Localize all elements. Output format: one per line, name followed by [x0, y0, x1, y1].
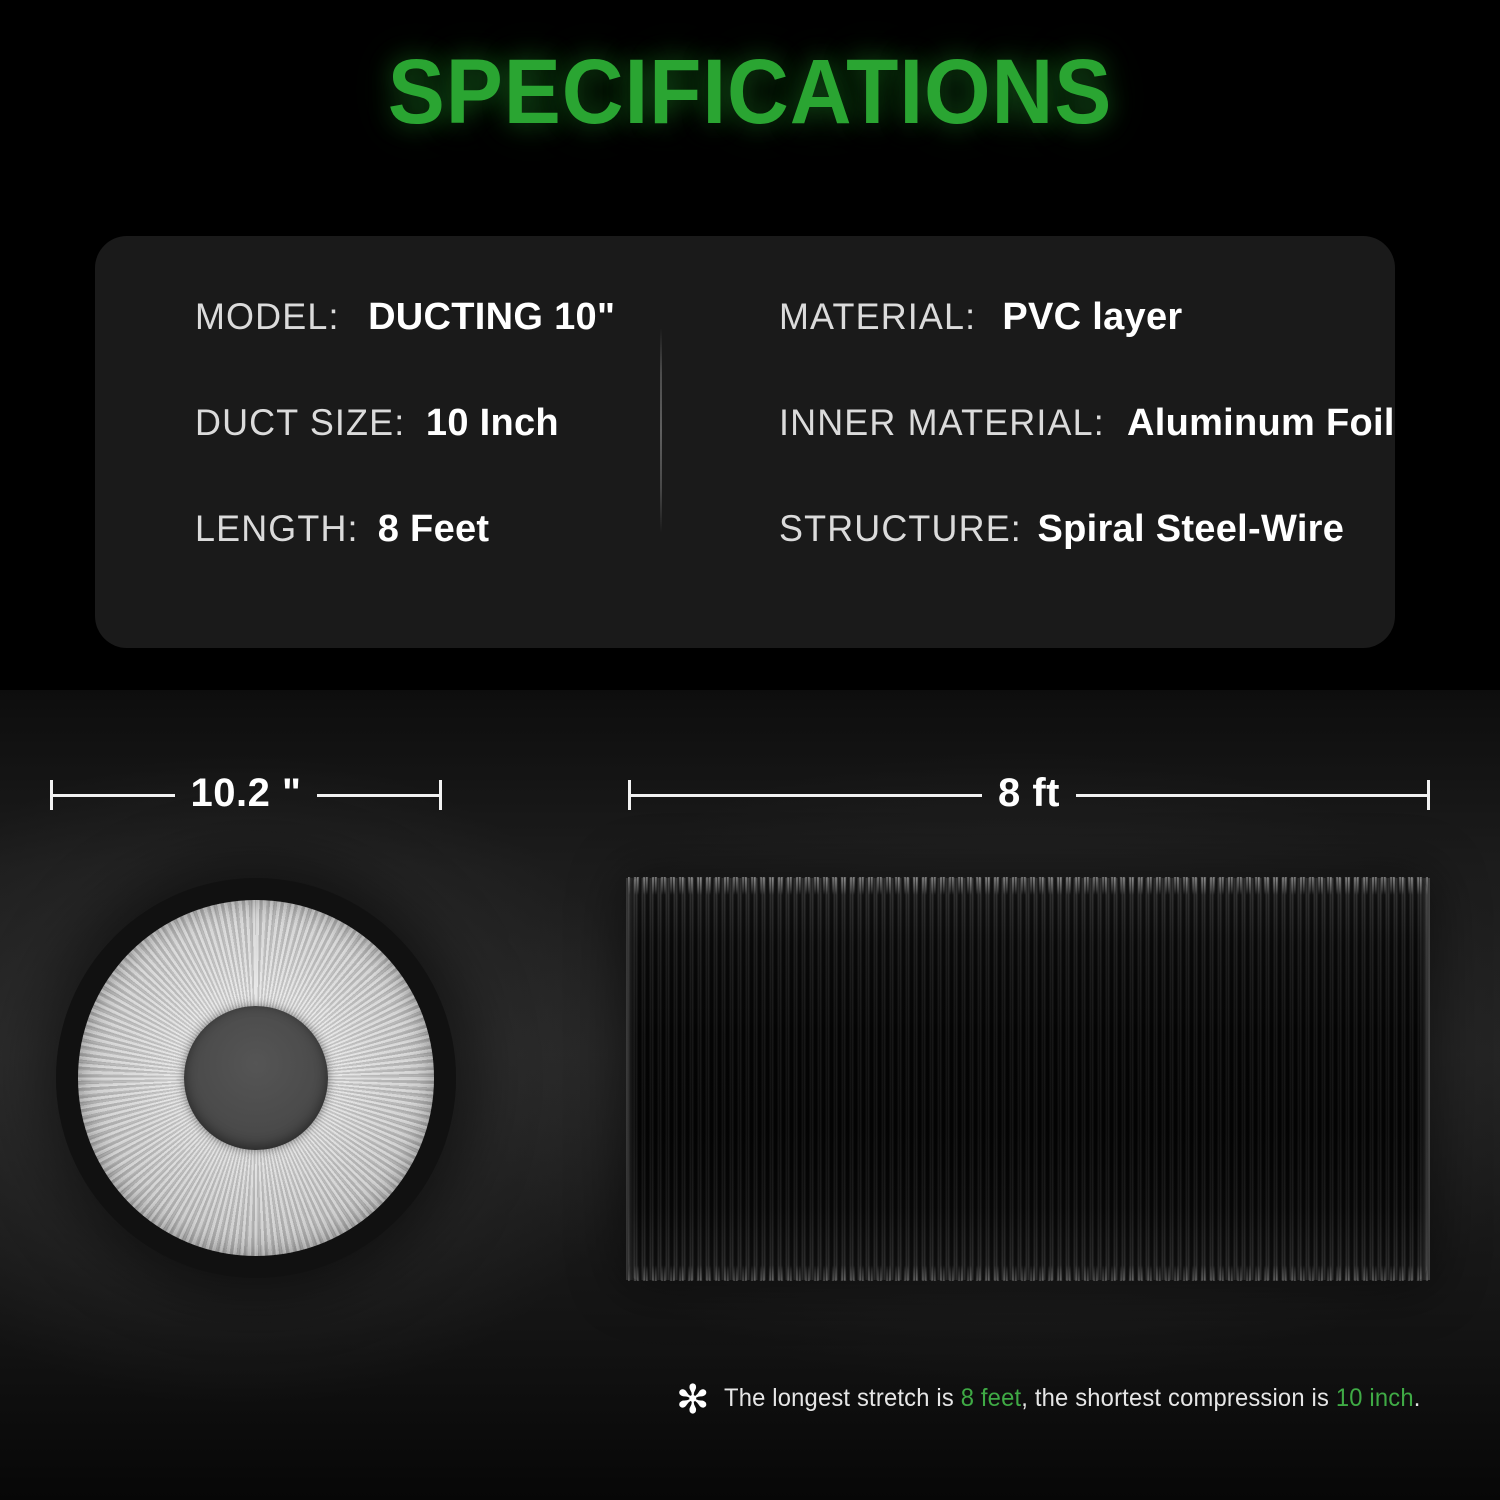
spec-value-material: PVC layer: [1002, 296, 1182, 339]
spec-value-structure: Spiral Steel-Wire: [1037, 508, 1344, 551]
spec-row-structure: STRUCTURE: Spiral Steel-Wire: [779, 508, 1344, 562]
spec-row-material: MATERIAL: PVC layer: [779, 296, 1183, 350]
footnote-value-stretch: 8 feet: [960, 1384, 1021, 1412]
duct-inner-bore: [184, 1006, 328, 1150]
footnote-suffix: .: [1413, 1384, 1420, 1412]
spec-row-length: LENGTH: 8 Feet: [195, 508, 489, 562]
duct-top-corrugation-edge: [628, 877, 1428, 895]
spec-row-inner-material: INNER MATERIAL: Aluminum Foil: [779, 402, 1395, 456]
footnote-middle: , the shortest compression is: [1021, 1384, 1336, 1412]
spec-label-model: MODEL:: [195, 296, 340, 338]
spec-value-length: 8 Feet: [378, 508, 490, 551]
dimension-label-diameter: 10.2 ": [175, 771, 318, 816]
duct-tube-image: [628, 878, 1428, 1280]
dimension-cap-right: [1427, 780, 1430, 810]
duct-right-edge-highlight: [1420, 878, 1430, 1280]
duct-bottom-corrugation-edge: [628, 1265, 1428, 1281]
spec-label-duct-size: DUCT SIZE:: [195, 402, 405, 444]
specifications-card: MODEL: DUCTING 10" DUCT SIZE: 10 Inch LE…: [95, 236, 1395, 648]
dimension-line-left: [631, 794, 982, 797]
duct-cross-section-image: [56, 878, 456, 1278]
footnote-text: The longest stretch is 8 feet, the short…: [724, 1384, 1421, 1413]
spec-label-inner-material: INNER MATERIAL:: [779, 402, 1105, 444]
spec-value-model: DUCTING 10": [368, 296, 615, 339]
dimension-line-left: [53, 794, 175, 797]
specification-sheet: SPECIFICATIONS MODEL: DUCTING 10" DUCT S…: [0, 0, 1500, 1500]
duct-left-edge-highlight: [626, 878, 636, 1280]
dimension-length: 8 ft: [628, 772, 1430, 818]
dimension-line-right: [317, 794, 439, 797]
footnote-prefix: The longest stretch is: [724, 1384, 961, 1412]
spec-value-inner-material: Aluminum Foil: [1127, 402, 1395, 445]
spec-label-length: LENGTH:: [195, 508, 359, 550]
spec-label-structure: STRUCTURE:: [779, 508, 1022, 550]
dimension-line-right: [1076, 794, 1427, 797]
footnote: ✻ The longest stretch is 8 feet, the sho…: [676, 1378, 1457, 1418]
page-title: SPECIFICATIONS: [53, 46, 1448, 138]
dimension-label-length: 8 ft: [982, 771, 1076, 816]
dimension-diameter: 10.2 ": [50, 772, 442, 818]
footnote-value-compression: 10 inch: [1335, 1384, 1413, 1412]
dimension-cap-right: [439, 780, 442, 810]
spec-label-material: MATERIAL:: [779, 296, 976, 338]
spec-value-duct-size: 10 Inch: [426, 402, 559, 445]
spec-row-model: MODEL: DUCTING 10": [195, 296, 615, 350]
asterisk-icon: ✻: [676, 1380, 710, 1420]
column-divider: [660, 328, 662, 533]
spec-row-duct-size: DUCT SIZE: 10 Inch: [195, 402, 559, 456]
